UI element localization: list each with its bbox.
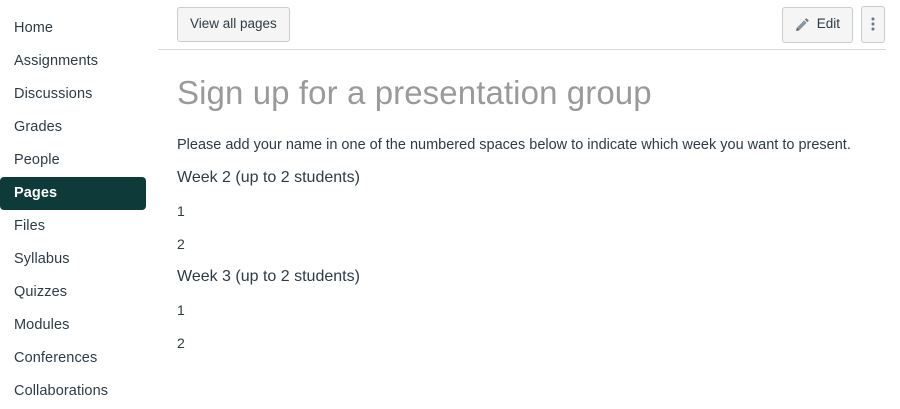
signup-slot: 2 [177, 333, 880, 353]
sidebar-item-syllabus[interactable]: Syllabus [0, 243, 146, 276]
sidebar-item-grades[interactable]: Grades [0, 111, 146, 144]
course-page: HomeAssignmentsDiscussionsGradesPeoplePa… [0, 0, 900, 409]
view-all-pages-button[interactable]: View all pages [177, 7, 290, 42]
page-intro-text: Please add your name in one of the numbe… [177, 135, 880, 155]
sidebar-item-quizzes[interactable]: Quizzes [0, 276, 146, 309]
sidebar-item-collaborations[interactable]: Collaborations [0, 375, 146, 408]
more-options-button[interactable] [861, 6, 885, 43]
page-title: Sign up for a presentation group [177, 73, 880, 113]
signup-slot: 1 [177, 201, 880, 221]
sidebar-item-people[interactable]: People [0, 144, 146, 177]
sidebar-item-assignments[interactable]: Assignments [0, 45, 146, 78]
main-content-area: View all pages Edit [158, 0, 900, 409]
sidebar-item-files[interactable]: Files [0, 210, 146, 243]
sidebar-item-modules[interactable]: Modules [0, 309, 146, 342]
course-navigation-sidebar: HomeAssignmentsDiscussionsGradesPeoplePa… [0, 0, 158, 409]
sidebar-item-conferences[interactable]: Conferences [0, 342, 146, 375]
signup-sections: Week 2 (up to 2 students)12Week 3 (up to… [177, 168, 880, 353]
toolbar-divider [158, 49, 886, 50]
page-toolbar: View all pages Edit [158, 0, 900, 49]
week-heading: Week 3 (up to 2 students) [177, 267, 880, 287]
signup-slot: 1 [177, 300, 880, 320]
week-heading: Week 2 (up to 2 students) [177, 168, 880, 188]
course-nav-list: HomeAssignmentsDiscussionsGradesPeoplePa… [0, 12, 158, 408]
wiki-page-body: Sign up for a presentation group Please … [158, 49, 900, 353]
kebab-menu-icon [871, 16, 875, 32]
signup-slot: 2 [177, 234, 880, 254]
pencil-icon [795, 17, 810, 32]
edit-button-label: Edit [817, 17, 840, 31]
sidebar-item-home[interactable]: Home [0, 12, 146, 45]
sidebar-item-pages[interactable]: Pages [0, 177, 146, 210]
edit-button[interactable]: Edit [782, 7, 853, 43]
sidebar-item-discussions[interactable]: Discussions [0, 78, 146, 111]
